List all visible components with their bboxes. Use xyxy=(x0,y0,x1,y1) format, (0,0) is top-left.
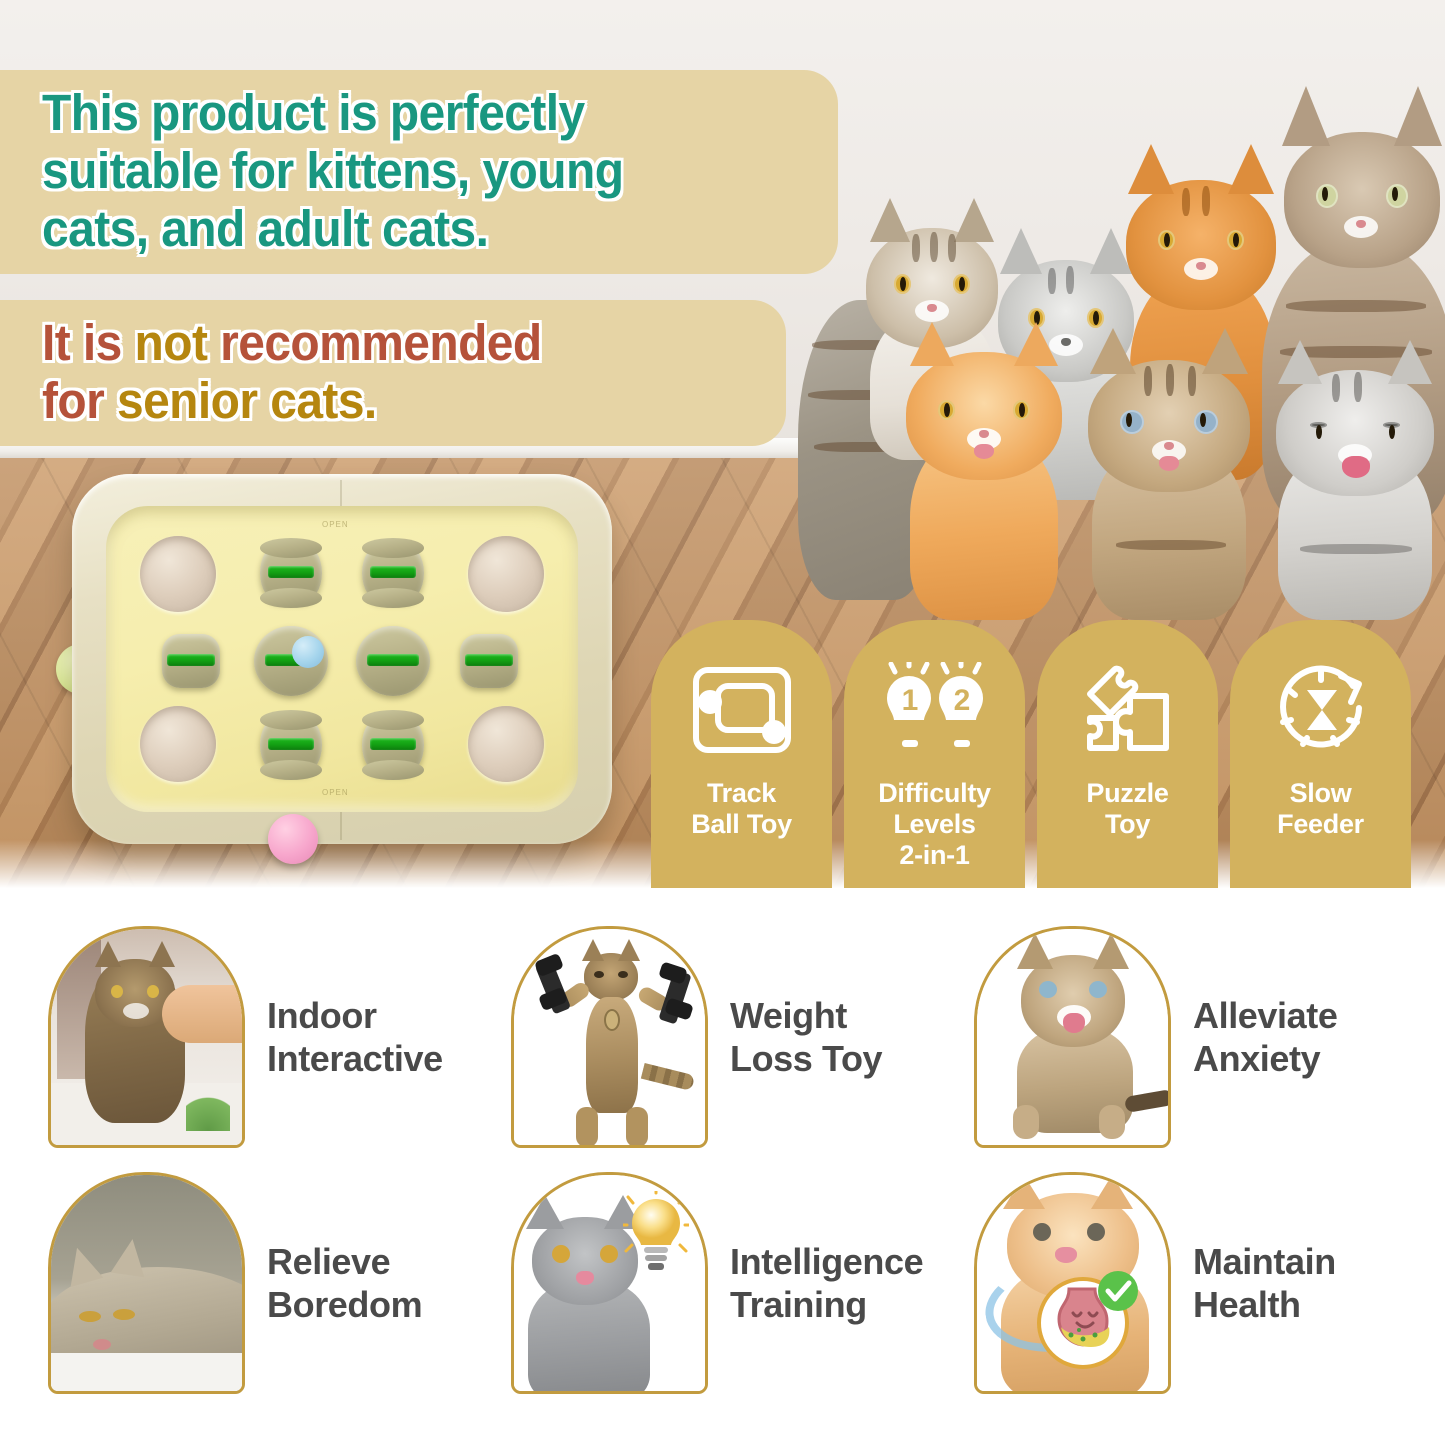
cat-lifting-dumbbells-photo xyxy=(514,929,705,1145)
difficulty-level-2-number: 2 xyxy=(953,684,970,717)
badge-label-line-1: Track xyxy=(691,778,792,809)
slot-piece-bottom-1 xyxy=(260,716,322,774)
feeder-cup-bottom-right xyxy=(468,706,544,782)
kitten-grey-tabby-front-right xyxy=(1264,364,1445,620)
open-label-bottom: OPEN xyxy=(322,788,349,797)
headline-line-3: cats, and adult cats. xyxy=(42,200,762,258)
badge-label-line-1: Puzzle xyxy=(1086,778,1168,809)
benefit-label-line-1: Intelligence xyxy=(730,1240,923,1283)
lightbulb-icon xyxy=(623,1191,689,1273)
benefit-label-line-2: Anxiety xyxy=(1193,1037,1337,1080)
benefit-label: Weight Loss Toy xyxy=(730,994,882,1080)
benefit-label: Indoor Interactive xyxy=(267,994,443,1080)
benefit-label-line-1: Alleviate xyxy=(1193,994,1337,1037)
feeder-cup-bottom-left xyxy=(140,706,216,782)
benefit-label: Maintain Health xyxy=(1193,1240,1336,1326)
warning-seg-2: not xyxy=(135,314,221,371)
warning-seg-1: It is xyxy=(42,314,135,371)
track-ball-toy-icon xyxy=(683,654,801,766)
benefit-label: Alleviate Anxiety xyxy=(1193,994,1337,1080)
warning-seg-5: senior cats. xyxy=(117,372,377,429)
bored-cat-lying-down-photo xyxy=(51,1175,242,1391)
badge-label-line-2: Feeder xyxy=(1277,809,1364,840)
warning-line-1: It is not recommended xyxy=(42,314,713,372)
tray-inner-plate: OPEN OPEN xyxy=(106,506,578,812)
benefit-label-line-2: Boredom xyxy=(267,1283,422,1326)
benefit-weight-loss-toy[interactable]: Weight Loss Toy xyxy=(511,926,974,1148)
badge-label-line-1: Difficulty xyxy=(878,778,991,809)
feeder-cup-top-right xyxy=(468,536,544,612)
badge-puzzle-toy[interactable]: Puzzle Toy xyxy=(1037,620,1218,888)
badge-puzzle-toy-label: Puzzle Toy xyxy=(1086,778,1168,840)
difficulty-levels-icon: 1 2 xyxy=(876,654,994,766)
benefit-photo-frame xyxy=(48,926,245,1148)
feeder-cup-top-left xyxy=(140,536,216,612)
product-cat-puzzle-toy: OPEN OPEN xyxy=(72,474,612,869)
headline-banner-secondary: It is not recommended for senior cats. xyxy=(0,300,786,446)
benefit-label-line-1: Relieve xyxy=(267,1240,422,1283)
kitten-orange-front xyxy=(896,330,1072,620)
badge-difficulty-levels-label: Difficulty Levels 2-in-1 xyxy=(878,778,991,871)
badge-track-ball-toy-label: Track Ball Toy xyxy=(691,778,792,840)
badge-slow-feeder[interactable]: Slow Feeder xyxy=(1230,620,1411,888)
benefit-photo-frame xyxy=(974,926,1171,1148)
feature-badges: Track Ball Toy 1 xyxy=(651,620,1411,888)
benefit-maintain-health[interactable]: Maintain Health xyxy=(974,1172,1437,1394)
benefit-relieve-boredom[interactable]: Relieve Boredom xyxy=(48,1172,511,1394)
benefit-label-line-2: Health xyxy=(1193,1283,1336,1326)
badge-label-line-2: Ball Toy xyxy=(691,809,792,840)
benefit-photo-frame xyxy=(511,926,708,1148)
slot-piece-mid-4 xyxy=(460,634,518,688)
warning-seg-3: recommended xyxy=(220,314,541,371)
benefit-label-line-2: Training xyxy=(730,1283,923,1326)
benefit-photo-frame xyxy=(974,1172,1171,1394)
orange-kitten-with-healthy-stomach-photo xyxy=(977,1175,1168,1391)
slot-piece-mid-2 xyxy=(254,626,328,696)
benefit-label-line-1: Weight xyxy=(730,994,882,1037)
kitten-brown-tabby-front xyxy=(1076,350,1262,620)
badge-label-line-2: Levels xyxy=(878,809,991,840)
warning-seg-4: for xyxy=(42,372,117,429)
blue-ball xyxy=(292,636,324,668)
cat-being-petted-indoors-photo xyxy=(51,929,242,1145)
difficulty-level-1-number: 1 xyxy=(901,684,918,717)
slot-piece-mid-1 xyxy=(162,634,220,688)
benefit-row-1: Indoor Interactive xyxy=(48,926,1438,1148)
slot-piece-top-1 xyxy=(260,544,322,602)
tray-outer-shell: OPEN OPEN xyxy=(72,474,612,844)
benefit-row-2: Relieve Boredom xyxy=(48,1172,1438,1394)
badge-label-line-3: 2-in-1 xyxy=(878,840,991,871)
benefit-label: Relieve Boredom xyxy=(267,1240,422,1326)
slot-piece-bottom-2 xyxy=(362,716,424,774)
cat-family-photo xyxy=(790,60,1440,620)
badge-track-ball-toy[interactable]: Track Ball Toy xyxy=(651,620,832,888)
slot-piece-mid-3 xyxy=(356,626,430,696)
grey-cat-with-lightbulb-photo xyxy=(514,1175,705,1391)
benefit-grid: Indoor Interactive xyxy=(48,926,1438,1418)
benefit-label-line-2: Interactive xyxy=(267,1037,443,1080)
badge-slow-feeder-label: Slow Feeder xyxy=(1277,778,1364,840)
headline-line-2: suitable for kittens, young xyxy=(42,142,762,200)
headline-line-1: This product is perfectly xyxy=(42,84,762,142)
pink-ball xyxy=(268,814,318,864)
open-label-top: OPEN xyxy=(322,520,349,529)
benefit-label-line-1: Maintain xyxy=(1193,1240,1336,1283)
benefit-alleviate-anxiety[interactable]: Alleviate Anxiety xyxy=(974,926,1437,1148)
benefit-label-line-1: Indoor xyxy=(267,994,443,1037)
benefit-intelligence-training[interactable]: Intelligence Training xyxy=(511,1172,974,1394)
slot-piece-top-2 xyxy=(362,544,424,602)
benefit-photo-frame xyxy=(511,1172,708,1394)
healthy-stomach-icon xyxy=(1035,1267,1139,1371)
badge-label-line-2: Toy xyxy=(1086,809,1168,840)
puzzle-toy-icon xyxy=(1069,654,1187,766)
benefit-indoor-interactive[interactable]: Indoor Interactive xyxy=(48,926,511,1148)
benefit-label-line-2: Loss Toy xyxy=(730,1037,882,1080)
badge-label-line-1: Slow xyxy=(1277,778,1364,809)
badge-difficulty-levels[interactable]: 1 2 Difficulty Levels 2-in-1 xyxy=(844,620,1025,888)
benefit-photo-frame xyxy=(48,1172,245,1394)
slow-feeder-icon xyxy=(1262,654,1380,766)
benefit-label: Intelligence Training xyxy=(730,1240,923,1326)
warning-line-2: for senior cats. xyxy=(42,372,713,430)
infographic-page: This product is perfectly suitable for k… xyxy=(0,0,1445,1445)
headline-banner-primary: This product is perfectly suitable for k… xyxy=(0,70,838,274)
happy-kitten-meowing-photo xyxy=(977,929,1168,1145)
